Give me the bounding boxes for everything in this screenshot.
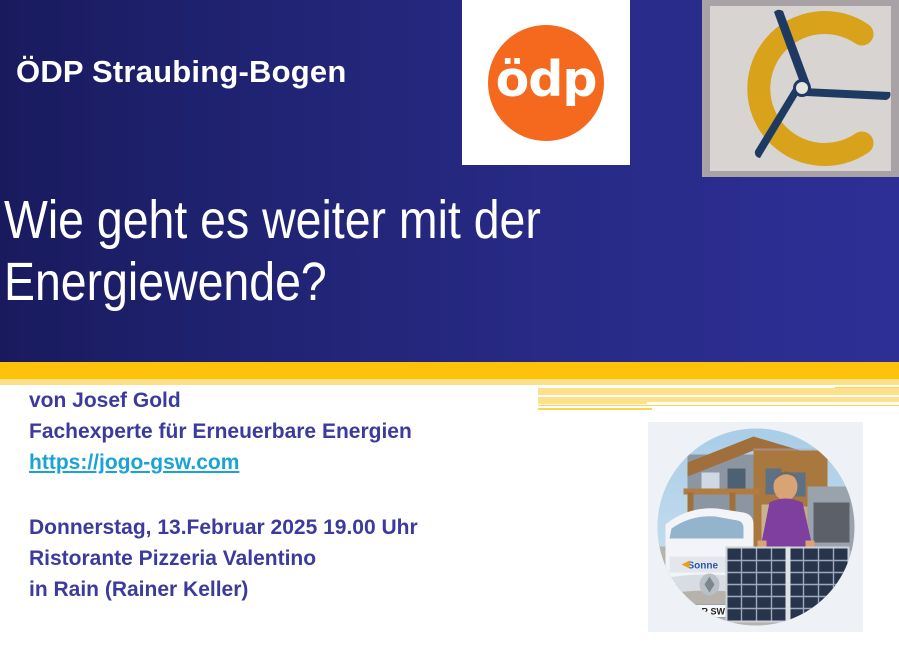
accent-band-gold [0,362,899,379]
header-band: ÖDP Straubing-Bogen Wie geht es weiter m… [0,0,899,362]
speaker-solar-photo-illustration: Sonne SR SW 44 [657,429,854,626]
odp-logo-circle: ödp [488,25,604,141]
wind-turbine-icon [702,0,899,177]
svg-text:Sonne: Sonne [687,561,718,572]
poster-root: ÖDP Straubing-Bogen Wie geht es weiter m… [0,0,899,658]
details-block: von Josef Gold Fachexperte für Erneuerba… [29,385,629,605]
event-datetime: Donnerstag, 13.Februar 2025 19.00 Uhr [29,512,629,543]
speaker-role: Fachexperte für Erneuerbare Energien [29,416,629,447]
speaker-intro: von Josef Gold [29,385,629,416]
photo-backdrop: Sonne SR SW 44 [648,422,863,632]
event-venue: Ristorante Pizzeria Valentino [29,543,629,574]
odp-wordmark: ödp [496,55,597,104]
page-title: Wie geht es weiter mit der Energiewende? [4,189,658,313]
speaker-solar-photo: Sonne SR SW 44 [657,429,854,626]
wind-turbine-logo [702,0,899,177]
event-location: in Rain (Rainer Keller) [29,574,629,605]
odp-logo: ödp [462,0,630,165]
speaker-website-link[interactable]: https://jogo-gsw.com [29,447,629,478]
organization-title: ÖDP Straubing-Bogen [16,54,346,90]
text-spacer [29,478,629,512]
